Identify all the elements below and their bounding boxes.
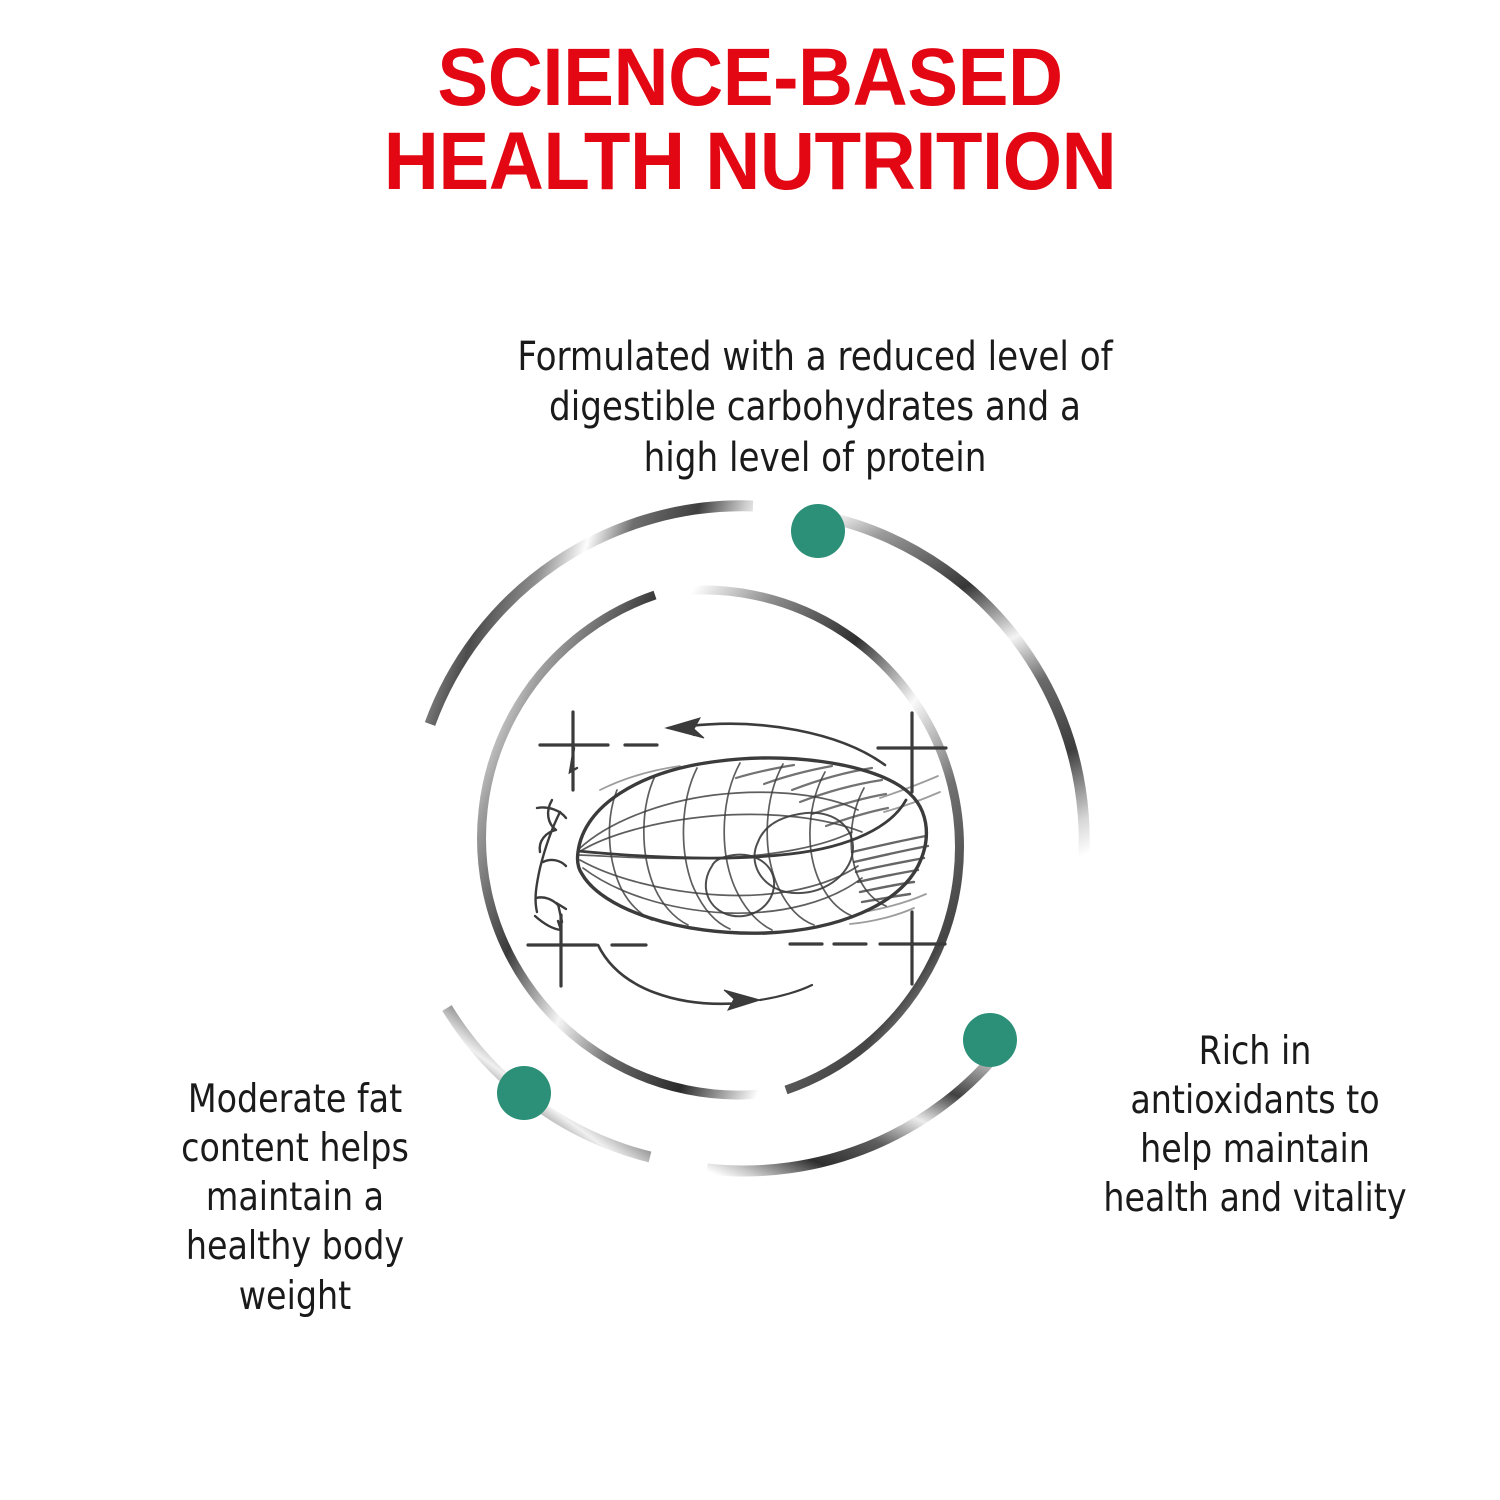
- inner-ring: [482, 590, 960, 1095]
- kibble-technical-sketch: [528, 712, 946, 1010]
- callout-left-line-3: maintain a: [105, 1173, 485, 1222]
- crosshair-top-left-icon: [540, 712, 657, 790]
- outer-ring-arc-top-right: [823, 516, 1084, 946]
- callout-top-line-1: Formulated with a reduced level of: [440, 332, 1191, 382]
- callout-right-line-1: Rich in: [1051, 1027, 1460, 1076]
- node-bottom-left: [497, 1066, 551, 1120]
- callout-top-line-3: high level of protein: [440, 433, 1191, 483]
- callout-top: Formulated with a reduced level of diges…: [440, 332, 1191, 483]
- callout-right: Rich in antioxidants to help maintain he…: [1051, 1027, 1460, 1224]
- kibble-loose-strokes: [600, 766, 940, 924]
- node-top: [791, 504, 845, 558]
- kibble-wireframe-transverse: [609, 763, 886, 930]
- callout-left-line-1: Moderate fat: [105, 1075, 485, 1124]
- rotation-arrow-top-icon: [666, 718, 885, 765]
- kibble-inner-contours: [706, 813, 853, 917]
- callout-left-line-5: weight: [105, 1272, 485, 1321]
- title-line-2: HEALTH NUTRITION: [53, 120, 1448, 204]
- kibble-wireframe-longitudinal: [579, 792, 862, 913]
- inner-ring-arc-left: [482, 595, 778, 1095]
- callout-left-line-2: content helps: [105, 1124, 485, 1173]
- node-bottom-right: [963, 1013, 1017, 1067]
- inner-ring-arc-main: [663, 590, 959, 1090]
- callout-left-line-4: healthy body: [105, 1222, 485, 1271]
- kibble-shading-right: [852, 836, 928, 902]
- kibble-outline: [577, 758, 926, 933]
- callout-top-line-2: digestible carbohydrates and a: [440, 382, 1191, 432]
- crosshair-top-right-icon: [878, 713, 946, 792]
- callout-right-line-2: antioxidants to: [1051, 1076, 1460, 1125]
- kibble-shading-top: [736, 765, 888, 826]
- callout-right-line-4: health and vitality: [1051, 1174, 1460, 1223]
- rotation-arrow-bottom-icon: [598, 945, 812, 1010]
- callout-left: Moderate fat content helps maintain a he…: [105, 1075, 485, 1321]
- handwritten-annotation: [535, 800, 566, 930]
- crosshair-bottom-right-icon: [790, 912, 945, 984]
- page-title: SCIENCE-BASED HEALTH NUTRITION: [0, 36, 1500, 205]
- kibble-seam: [578, 800, 906, 858]
- outer-ring-arc-top-left: [430, 506, 753, 724]
- callout-right-line-3: help maintain: [1051, 1125, 1460, 1174]
- outer-ring: [430, 506, 1084, 1171]
- crosshair-bottom-left-icon: [528, 904, 646, 986]
- title-line-1: SCIENCE-BASED: [53, 36, 1448, 120]
- outer-ring-arc-bottom-right: [707, 1045, 1004, 1171]
